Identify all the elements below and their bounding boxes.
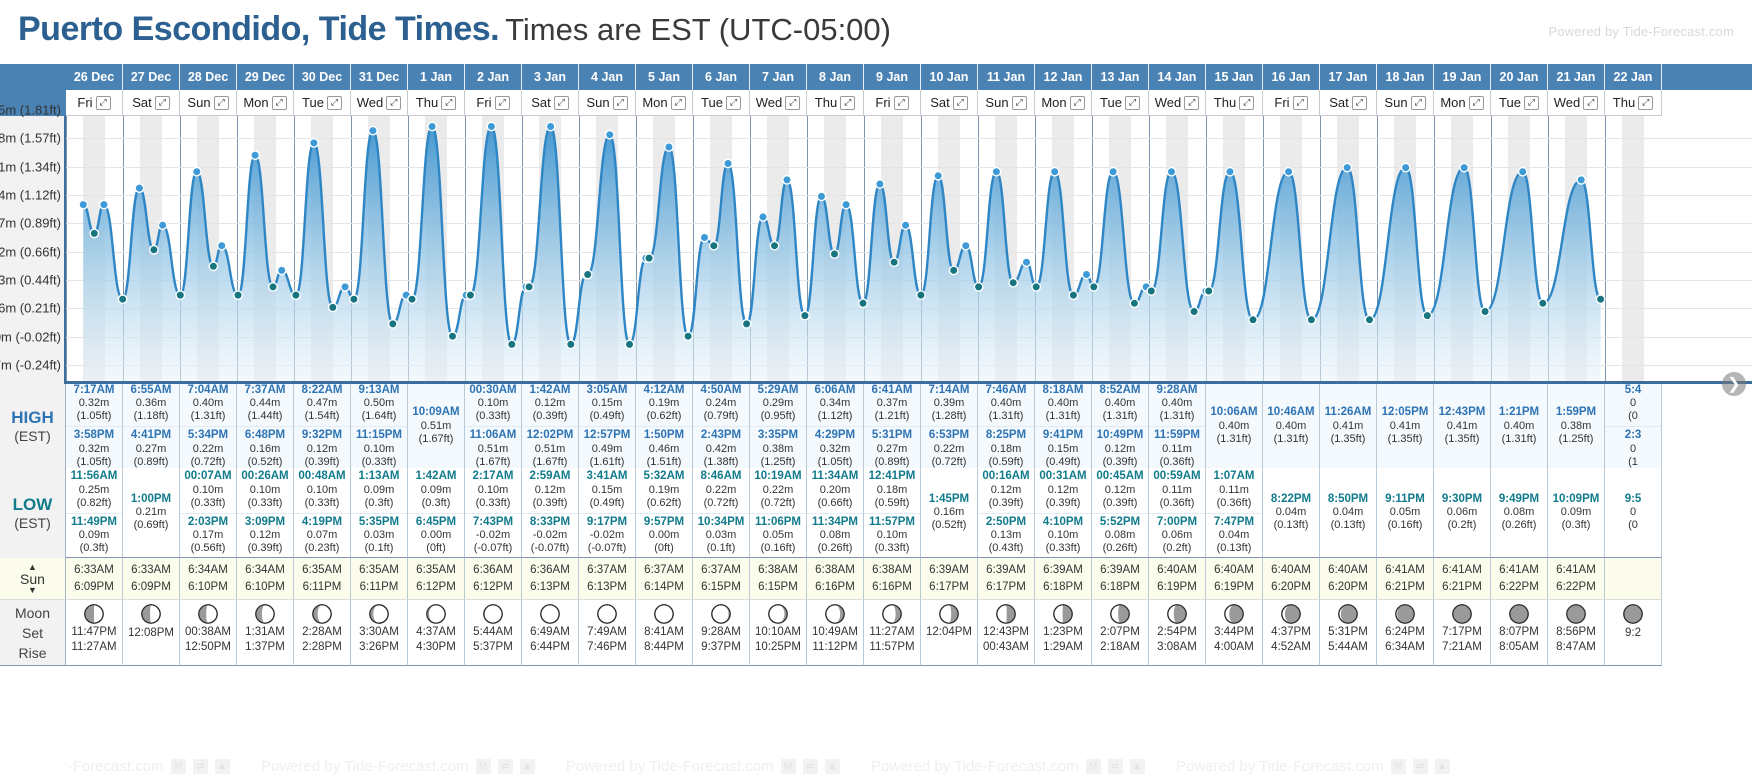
day-header-cell[interactable]: Tue⤢ xyxy=(693,90,750,116)
moon-cell: 10:49AM11:12PM xyxy=(807,600,864,666)
day-header-cell[interactable]: Sat⤢ xyxy=(1320,90,1377,116)
low-tide-point[interactable] xyxy=(950,266,958,274)
day-header-cell[interactable]: Fri⤢ xyxy=(465,90,522,116)
low-tide-point[interactable] xyxy=(209,262,217,270)
day-header-cell[interactable]: Mon⤢ xyxy=(636,90,693,116)
high-tide-cell: 8:18AM0.40m(1.31ft)9:41PM0.15m(0.49ft) xyxy=(1035,384,1092,468)
day-header-cell[interactable]: Sat⤢ xyxy=(522,90,579,116)
tide-curve-svg xyxy=(66,116,1752,381)
expand-day-icon[interactable]: ⤢ xyxy=(1125,96,1140,110)
day-header-cell[interactable]: Sun⤢ xyxy=(579,90,636,116)
low-tide-point[interactable] xyxy=(1481,307,1489,315)
low-tide-cell: 11:56AM0.25m(0.82ft)11:49PM0.09m(0.3ft) xyxy=(66,468,123,558)
tide-event: 00:26AM0.10m(0.33ft) xyxy=(237,469,293,511)
sun-cell: 6:37AM6:14PM xyxy=(636,558,693,600)
high-tide-point[interactable] xyxy=(783,176,791,184)
day-header-cell[interactable]: Mon⤢ xyxy=(1035,90,1092,116)
tide-height-m: 0.17m xyxy=(180,529,236,542)
watermark-badge-icon: M xyxy=(1086,759,1101,774)
tide-time: 6:06AM xyxy=(807,384,863,398)
date-header-cell[interactable]: 16 Jan xyxy=(1263,64,1320,90)
low-tide-point[interactable] xyxy=(710,242,718,250)
expand-day-icon[interactable]: ⤢ xyxy=(272,96,287,110)
high-tide-point[interactable] xyxy=(218,242,226,250)
expand-day-icon[interactable]: ⤢ xyxy=(214,96,229,110)
high-tide-point[interactable] xyxy=(546,122,554,130)
tide-time: 7:37AM xyxy=(237,384,293,398)
high-tide-point[interactable] xyxy=(1051,168,1059,176)
date-header-cell[interactable]: 2 Jan xyxy=(465,64,522,90)
tide-height-ft: (0.23ft) xyxy=(294,542,350,555)
low-tide-point[interactable] xyxy=(269,283,277,291)
high-tide-point[interactable] xyxy=(606,131,614,139)
chart-plot-area[interactable] xyxy=(66,116,1752,384)
tide-height-ft: (1.64ft) xyxy=(351,410,407,423)
date-header-cell[interactable]: 3 Jan xyxy=(522,64,579,90)
high-tide-point[interactable] xyxy=(278,266,286,274)
expand-day-icon[interactable]: ⤢ xyxy=(327,96,342,110)
sunset-time: 6:15PM xyxy=(701,580,741,594)
day-header-cell[interactable]: Sun⤢ xyxy=(1377,90,1434,116)
low-tide-point[interactable] xyxy=(1032,283,1040,291)
moon-phase-icon xyxy=(1508,603,1530,625)
high-tide-point[interactable] xyxy=(1577,176,1585,184)
low-tide-point[interactable] xyxy=(176,291,184,299)
tide-event: 8:25PM0.18m(0.59ft) xyxy=(978,426,1034,470)
tide-height-ft: (0.59ft) xyxy=(978,456,1034,469)
low-tide-point[interactable] xyxy=(118,295,126,303)
low-tide-point[interactable] xyxy=(625,340,633,348)
tide-height-ft: (0.1ft) xyxy=(351,542,407,555)
moonset-time: 3:44PM xyxy=(1214,626,1254,640)
tide-event: 4:12AM0.19m(0.62ft) xyxy=(636,383,692,425)
day-header-cell[interactable]: Wed⤢ xyxy=(750,90,807,116)
tide-time: 9:11PM xyxy=(1377,493,1433,507)
low-tide-row: LOW (EST) 11:56AM0.25m(0.82ft)11:49PM0.0… xyxy=(0,468,1752,558)
sun-cell: 6:41AM6:22PM xyxy=(1548,558,1605,600)
expand-day-icon[interactable]: ⤢ xyxy=(726,96,741,110)
expand-day-icon[interactable]: ⤢ xyxy=(1411,96,1426,110)
low-tide-point[interactable] xyxy=(584,270,592,278)
expand-day-icon[interactable]: ⤢ xyxy=(1293,96,1308,110)
sunset-time: 6:21PM xyxy=(1385,580,1425,594)
day-header-cell[interactable]: Mon⤢ xyxy=(1434,90,1491,116)
tide-time: 7:43PM xyxy=(465,516,521,530)
high-tide-point[interactable] xyxy=(876,180,884,188)
low-tide-point[interactable] xyxy=(1090,283,1098,291)
moonset-label-text: Set xyxy=(22,625,43,641)
high-tide-point[interactable] xyxy=(79,200,87,208)
high-tide-point[interactable] xyxy=(428,122,436,130)
day-name-text: Sun xyxy=(985,95,1008,110)
tide-height-m: 0.40m xyxy=(1206,420,1262,433)
tide-height-m: 0.12m xyxy=(522,484,578,497)
moonset-time: 7:49AM xyxy=(587,626,627,640)
low-tide-point[interactable] xyxy=(645,254,653,262)
tide-height-ft: (1.05ft) xyxy=(807,456,863,469)
tide-time: 3:09PM xyxy=(237,516,293,530)
moon-cell: 1:31AM1:37PM xyxy=(237,600,294,666)
moon-phase-icon xyxy=(368,603,390,625)
moon-phase-icon xyxy=(1394,603,1416,625)
tide-height-ft: (1.25ft) xyxy=(750,456,806,469)
moonrise-time: 2:28PM xyxy=(302,641,342,655)
low-tide-point[interactable] xyxy=(525,283,533,291)
tide-height-ft: (1.61ft) xyxy=(579,456,635,469)
moon-cell: 10:10AM10:25PM xyxy=(750,600,807,666)
day-header-cell[interactable]: Fri⤢ xyxy=(1263,90,1320,116)
tide-event: 9:30PM0.06m(0.2ft) xyxy=(1434,492,1490,534)
moon-phase-icon xyxy=(83,603,105,625)
low-tide-point[interactable] xyxy=(1307,316,1315,324)
tide-event: 4:41PM0.27m(0.89ft) xyxy=(123,426,179,470)
high-tide-point[interactable] xyxy=(310,139,318,147)
moonset-time: 4:37PM xyxy=(1271,626,1311,640)
tide-height-m: 0.25m xyxy=(66,484,122,497)
date-header-cell[interactable]: 29 Dec xyxy=(237,64,294,90)
high-tide-point[interactable] xyxy=(251,151,259,159)
high-tide-tz: (EST) xyxy=(14,428,51,444)
date-header-cell[interactable]: 11 Jan xyxy=(978,64,1035,90)
tide-event: 1:42AM0.09m(0.3ft) xyxy=(408,469,464,511)
high-tide-point[interactable] xyxy=(992,168,1000,176)
day-header-cell[interactable]: Sun⤢ xyxy=(180,90,237,116)
expand-day-icon[interactable]: ⤢ xyxy=(386,96,401,110)
date-header-cell[interactable]: 12 Jan xyxy=(1035,64,1092,90)
day-header-cell[interactable]: Tue⤢ xyxy=(1092,90,1149,116)
tide-time: 4:19PM xyxy=(294,516,350,530)
date-header-cell[interactable]: 31 Dec xyxy=(351,64,408,90)
high-tide-point[interactable] xyxy=(724,159,732,167)
tide-height-ft: (0.39ft) xyxy=(1092,456,1148,469)
expand-day-icon[interactable]: ⤢ xyxy=(441,96,456,110)
low-tide-point[interactable] xyxy=(1190,307,1198,315)
tide-time: 2:50PM xyxy=(978,516,1034,530)
expand-day-icon[interactable]: ⤢ xyxy=(155,96,170,110)
day-header-cell[interactable]: Thu⤢ xyxy=(408,90,465,116)
date-header-cell[interactable]: 7 Jan xyxy=(750,64,807,90)
expand-day-icon[interactable]: ⤢ xyxy=(495,96,510,110)
tide-height-m: 0.08m xyxy=(807,529,863,542)
low-tide-point[interactable] xyxy=(859,299,867,307)
tide-event: 11:49PM0.09m(0.3ft) xyxy=(66,513,122,557)
tide-height-ft: (0.26ft) xyxy=(1092,542,1148,555)
moon-cell: 3:44PM4:00AM xyxy=(1206,600,1263,666)
tide-height-m: 0.09m xyxy=(351,484,407,497)
high-tide-point[interactable] xyxy=(901,221,909,229)
date-header-cell[interactable]: 9 Jan xyxy=(864,64,921,90)
date-header-cell[interactable]: 18 Jan xyxy=(1377,64,1434,90)
high-tide-point[interactable] xyxy=(1082,270,1090,278)
high-tide-point[interactable] xyxy=(1022,258,1030,266)
date-header-cell[interactable]: 14 Jan xyxy=(1149,64,1206,90)
low-tide-point[interactable] xyxy=(1147,287,1155,295)
tide-time: 00:16AM xyxy=(978,470,1034,484)
low-tide-point[interactable] xyxy=(1596,295,1604,303)
tide-time: 11:15PM xyxy=(351,429,407,443)
expand-day-icon[interactable]: ⤢ xyxy=(1524,96,1539,110)
low-tide-point[interactable] xyxy=(408,295,416,303)
tide-time: 4:29PM xyxy=(807,429,863,443)
date-header-cell[interactable]: 26 Dec xyxy=(66,64,123,90)
low-tide-point[interactable] xyxy=(830,250,838,258)
tide-height-m: 0.18m xyxy=(978,443,1034,456)
day-header-cell[interactable]: Tue⤢ xyxy=(1491,90,1548,116)
tide-event: 8:22AM0.47m(1.54ft) xyxy=(294,383,350,425)
moon-phase-icon xyxy=(1451,603,1473,625)
low-tide-point[interactable] xyxy=(448,332,456,340)
low-tide-point[interactable] xyxy=(1539,299,1547,307)
low-tide-point[interactable] xyxy=(90,229,98,237)
high-tide-point[interactable] xyxy=(369,126,377,134)
sunrise-time: 6:35AM xyxy=(359,563,399,577)
high-tide-point[interactable] xyxy=(135,184,143,192)
tide-event: 2:30(1 xyxy=(1605,426,1661,470)
date-header-cell[interactable]: 21 Jan xyxy=(1548,64,1605,90)
y-axis-tick-label: 0.27m (0.89ft) xyxy=(0,216,61,231)
low-tide-point[interactable] xyxy=(234,291,242,299)
high-tide-point[interactable] xyxy=(1284,168,1292,176)
low-tide-point[interactable] xyxy=(801,311,809,319)
tide-event: 7:43PM-0.02m(-0.07ft) xyxy=(465,513,521,557)
low-tide-point[interactable] xyxy=(329,303,337,311)
sunrise-time: 6:41AM xyxy=(1442,563,1482,577)
high-tide-point[interactable] xyxy=(1226,168,1234,176)
date-header-cell[interactable]: 15 Jan xyxy=(1206,64,1263,90)
high-tide-point[interactable] xyxy=(665,143,673,151)
sun-cell: 6:40AM6:19PM xyxy=(1206,558,1263,600)
tide-time: 10:19AM xyxy=(750,470,806,484)
expand-day-icon[interactable]: ⤢ xyxy=(953,96,968,110)
tide-height-ft: (0.33ft) xyxy=(864,542,920,555)
tide-time: 10:06AM xyxy=(1206,406,1262,420)
day-header-cell[interactable]: Thu⤢ xyxy=(1605,90,1662,116)
high-tide-point[interactable] xyxy=(817,192,825,200)
tide-height-ft: (1.25ft) xyxy=(1548,433,1604,446)
tide-event: 5:32AM0.19m(0.62ft) xyxy=(636,469,692,511)
low-tide-point[interactable] xyxy=(567,340,575,348)
high-tide-point[interactable] xyxy=(759,213,767,221)
tide-height-m: 0.18m xyxy=(864,484,920,497)
sun-cell: 6:38AM6:16PM xyxy=(807,558,864,600)
tide-time: 8:22AM xyxy=(294,384,350,398)
high-tide-point[interactable] xyxy=(487,122,495,130)
tide-time: 1:42AM xyxy=(522,384,578,398)
tide-height-ft: (1.31ft) xyxy=(978,410,1034,423)
high-tide-point[interactable] xyxy=(1343,163,1351,171)
date-header-cell[interactable]: 6 Jan xyxy=(693,64,750,90)
day-header-cell[interactable]: Tue⤢ xyxy=(294,90,351,116)
tide-height-ft: (1.31ft) xyxy=(1149,410,1205,423)
tide-event: 00:07AM0.10m(0.33ft) xyxy=(180,469,236,511)
day-header-cell[interactable]: Sat⤢ xyxy=(123,90,180,116)
tide-time: 7:46AM xyxy=(978,384,1034,398)
high-tide-point[interactable] xyxy=(1519,168,1527,176)
high-tide-cell: 6:41AM0.37m(1.21ft)5:31PM0.27m(0.89ft) xyxy=(864,384,921,468)
low-tide-cell: 11:34AM0.20m(0.66ft)11:34PM0.08m(0.26ft) xyxy=(807,468,864,558)
scroll-right-button[interactable]: ❯ xyxy=(1722,372,1746,396)
low-tide-point[interactable] xyxy=(1249,316,1257,324)
day-header-cell[interactable]: Sat⤢ xyxy=(921,90,978,116)
tide-time: 5:34PM xyxy=(180,429,236,443)
tide-height-ft: (0.62ft) xyxy=(636,497,692,510)
y-axis-tick-label: 0.34m (1.12ft) xyxy=(0,188,61,203)
moonrise-time: 4:30PM xyxy=(416,641,456,655)
low-tide-point[interactable] xyxy=(1009,279,1017,287)
high-tide-point[interactable] xyxy=(962,242,970,250)
tide-event: 12:05PM0.41m(1.35ft) xyxy=(1377,405,1433,447)
high-tide-point[interactable] xyxy=(193,168,201,176)
expand-day-icon[interactable]: ⤢ xyxy=(1012,96,1027,110)
watermark-badge-icon: ⇄ xyxy=(803,759,818,774)
day-header-cell[interactable]: Wed⤢ xyxy=(1548,90,1605,116)
tide-height-m: 0.10m xyxy=(465,397,521,410)
low-tide-point[interactable] xyxy=(1365,316,1373,324)
expand-day-icon[interactable]: ⤢ xyxy=(840,96,855,110)
low-tide-point[interactable] xyxy=(742,320,750,328)
high-tide-point[interactable] xyxy=(1460,163,1468,171)
high-tide-point[interactable] xyxy=(1109,168,1117,176)
low-tide-point[interactable] xyxy=(974,283,982,291)
low-tide-point[interactable] xyxy=(150,246,158,254)
tide-height-m: 0.40m xyxy=(1491,420,1547,433)
high-tide-point[interactable] xyxy=(158,221,166,229)
high-tide-cell: 5:40(02:30(1 xyxy=(1605,384,1662,468)
tide-height-m: 0.12m xyxy=(522,397,578,410)
moon-phase-icon xyxy=(995,603,1017,625)
tide-height-ft: (1.31ft) xyxy=(1206,433,1262,446)
tide-event: 1:07AM0.11m(0.36ft) xyxy=(1206,469,1262,511)
low-tide-point[interactable] xyxy=(917,291,925,299)
high-tide-point[interactable] xyxy=(934,172,942,180)
low-tide-point[interactable] xyxy=(1130,299,1138,307)
low-tide-point[interactable] xyxy=(684,332,692,340)
day-name-text: Sat xyxy=(531,95,551,110)
low-tide-point[interactable] xyxy=(466,291,474,299)
tide-event: 1:59PM0.38m(1.25ft) xyxy=(1548,405,1604,447)
high-tide-point[interactable] xyxy=(1167,168,1175,176)
day-name-text: Tue xyxy=(1100,95,1122,110)
date-header-cell[interactable]: 28 Dec xyxy=(180,64,237,90)
date-header-cell[interactable]: 22 Jan xyxy=(1605,64,1662,90)
tide-height-ft: (0.2ft) xyxy=(1149,542,1205,555)
date-header-cell[interactable]: 13 Jan xyxy=(1092,64,1149,90)
low-tide-point[interactable] xyxy=(350,295,358,303)
date-header-cell[interactable]: 20 Jan xyxy=(1491,64,1548,90)
tide-time: 1:00PM xyxy=(123,493,179,507)
expand-day-icon[interactable]: ⤢ xyxy=(96,96,111,110)
day-name-text: Sun xyxy=(586,95,609,110)
expand-day-icon[interactable]: ⤢ xyxy=(1239,96,1254,110)
watermark-badge-icon: ▲ xyxy=(1130,759,1145,774)
watermark-badge-icon: M xyxy=(1391,759,1406,774)
high-tide-point[interactable] xyxy=(100,200,108,208)
tide-time: 00:31AM xyxy=(1035,470,1091,484)
expand-day-icon[interactable]: ⤢ xyxy=(671,96,686,110)
sunset-time: 6:18PM xyxy=(1043,580,1083,594)
expand-day-icon[interactable]: ⤢ xyxy=(1184,96,1199,110)
day-header-cell[interactable]: Fri⤢ xyxy=(864,90,921,116)
date-header-cell[interactable]: 19 Jan xyxy=(1434,64,1491,90)
moon-cell: 3:30AM3:26PM xyxy=(351,600,408,666)
date-header-cell[interactable]: 8 Jan xyxy=(807,64,864,90)
high-tide-point[interactable] xyxy=(700,233,708,241)
tide-event: 00:59AM0.11m(0.36ft) xyxy=(1149,469,1205,511)
high-tide-row: HIGH (EST) 7:17AM0.32m(1.05ft)3:58PM0.32… xyxy=(0,384,1752,468)
tide-event: 12:02PM0.51m(1.67ft) xyxy=(522,426,578,470)
day-header-cell[interactable]: Sun⤢ xyxy=(978,90,1035,116)
tide-time: 9:30PM xyxy=(1434,493,1490,507)
date-header-cell[interactable]: 17 Jan xyxy=(1320,64,1377,90)
expand-day-icon[interactable]: ⤢ xyxy=(1469,96,1484,110)
high-tide-point[interactable] xyxy=(1402,163,1410,171)
low-tide-point[interactable] xyxy=(389,320,397,328)
tide-event: 00:31AM0.12m(0.39ft) xyxy=(1035,469,1091,511)
expand-day-icon[interactable]: ⤢ xyxy=(1070,96,1085,110)
moonset-time: 3:30AM xyxy=(359,626,399,640)
expand-day-icon[interactable]: ⤢ xyxy=(1638,96,1653,110)
sunset-time: 6:12PM xyxy=(473,580,513,594)
low-tide-point[interactable] xyxy=(1205,287,1213,295)
expand-day-icon[interactable]: ⤢ xyxy=(554,96,569,110)
moonrise-time: 4:52AM xyxy=(1271,641,1311,655)
day-header-cell[interactable]: Thu⤢ xyxy=(1206,90,1263,116)
tide-height-ft: (0.36ft) xyxy=(1149,497,1205,510)
day-header-cell[interactable]: Mon⤢ xyxy=(237,90,294,116)
date-header-cell[interactable]: 27 Dec xyxy=(123,64,180,90)
expand-day-icon[interactable]: ⤢ xyxy=(613,96,628,110)
expand-day-icon[interactable]: ⤢ xyxy=(785,96,800,110)
tide-event: 2:50PM0.13m(0.43ft) xyxy=(978,513,1034,557)
tide-height-ft: (0ft) xyxy=(636,542,692,555)
expand-day-icon[interactable]: ⤢ xyxy=(1352,96,1367,110)
sunrise-time: 6:41AM xyxy=(1556,563,1596,577)
expand-day-icon[interactable]: ⤢ xyxy=(1583,96,1598,110)
tide-height-m: 0.34m xyxy=(807,397,863,410)
expand-day-icon[interactable]: ⤢ xyxy=(894,96,909,110)
high-tide-cell: 9:13AM0.50m(1.64ft)11:15PM0.10m(0.33ft) xyxy=(351,384,408,468)
tide-height-ft: (1.67ft) xyxy=(408,433,464,446)
day-header-cell[interactable]: Fri⤢ xyxy=(66,90,123,116)
moonset-time: 2:07PM xyxy=(1100,626,1140,640)
date-header-cell[interactable]: 10 Jan xyxy=(921,64,978,90)
moonset-time: 8:56PM xyxy=(1556,626,1596,640)
high-tide-point[interactable] xyxy=(842,200,850,208)
tide-height-ft: (0.59ft) xyxy=(864,497,920,510)
date-header-cell[interactable]: 5 Jan xyxy=(636,64,693,90)
moon-cell: 6:49AM6:44PM xyxy=(522,600,579,666)
low-tide-cell: 00:31AM0.12m(0.39ft)4:10PM0.10m(0.33ft) xyxy=(1035,468,1092,558)
low-tide-point[interactable] xyxy=(508,340,516,348)
day-header-cell[interactable]: Wed⤢ xyxy=(1149,90,1206,116)
low-tide-point[interactable] xyxy=(1423,311,1431,319)
moon-cell: 2:28AM2:28PM xyxy=(294,600,351,666)
date-header-cell[interactable]: 1 Jan xyxy=(408,64,465,90)
low-tide-cell: 9:30PM0.06m(0.2ft) xyxy=(1434,468,1491,558)
low-tide-point[interactable] xyxy=(1069,291,1077,299)
day-header-cell[interactable]: Thu⤢ xyxy=(807,90,864,116)
moonrise-time: 8:44PM xyxy=(644,641,684,655)
low-tide-point[interactable] xyxy=(770,242,778,250)
day-header-cell[interactable]: Wed⤢ xyxy=(351,90,408,116)
moonset-time: 10:49AM xyxy=(812,626,858,640)
high-tide-point[interactable] xyxy=(341,283,349,291)
date-header-cell[interactable]: 30 Dec xyxy=(294,64,351,90)
low-tide-point[interactable] xyxy=(890,258,898,266)
date-header-cell[interactable]: 4 Jan xyxy=(579,64,636,90)
moon-cell: 00:38AM12:50PM xyxy=(180,600,237,666)
low-tide-point[interactable] xyxy=(292,291,300,299)
